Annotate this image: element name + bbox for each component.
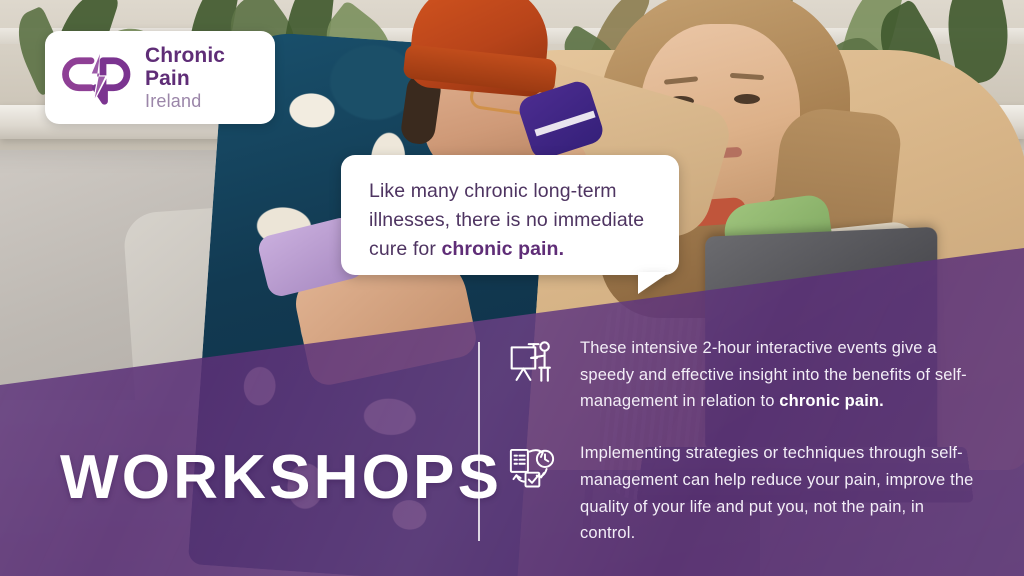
speech-bubble-tail (638, 272, 670, 294)
quote-text: Like many chronic long-term illnesses, t… (369, 177, 653, 264)
photo-person-two-eye (734, 94, 760, 104)
point-text-regular: Implementing strategies or techniques th… (580, 444, 974, 542)
vertical-divider (478, 342, 480, 541)
list-item: Implementing strategies or techniques th… (506, 439, 976, 547)
presenter-whiteboard-icon (506, 336, 558, 388)
logo-wordmark: Chronic Pain Ireland (145, 45, 225, 110)
workshops-poster: Chronic Pain Ireland Like many chronic l… (0, 0, 1024, 576)
quote-speech-bubble: Like many chronic long-term illnesses, t… (341, 155, 679, 275)
list-item-text: Implementing strategies or techniques th… (580, 439, 976, 547)
quote-text-emphasis: chronic pain. (441, 238, 564, 260)
chronic-pain-ireland-logo-icon (61, 50, 133, 106)
point-text-regular: These intensive 2-hour interactive event… (580, 339, 967, 410)
list-item-text: These intensive 2-hour interactive event… (580, 334, 976, 415)
logo-text-chronic: Chronic (145, 45, 225, 66)
logo-text-ireland: Ireland (145, 92, 225, 110)
process-cycle-icon (506, 441, 558, 493)
point-text-emphasis: chronic pain. (779, 392, 884, 410)
logo-text-pain: Pain (145, 68, 225, 89)
list-item: These intensive 2-hour interactive event… (506, 334, 976, 415)
workshop-points-list: These intensive 2-hour interactive event… (506, 334, 976, 547)
logo-card[interactable]: Chronic Pain Ireland (45, 31, 275, 124)
page-title: WORKSHOPS (60, 447, 502, 509)
